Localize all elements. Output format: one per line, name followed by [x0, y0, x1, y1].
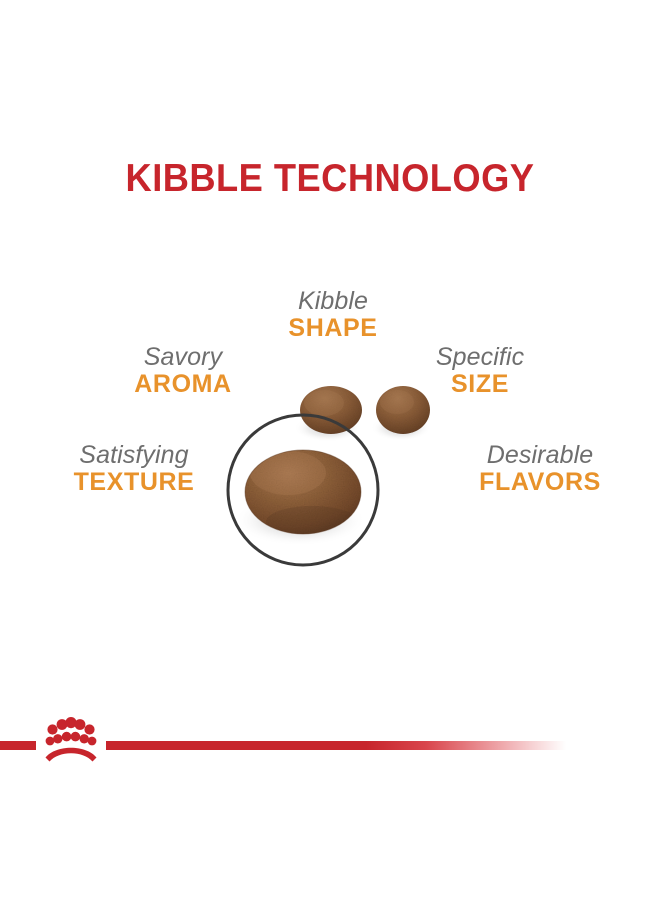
page-title: KIBBLE TECHNOLOGY [23, 157, 637, 201]
feature-texture-name: TEXTURE [48, 469, 220, 496]
crown-dots [46, 717, 97, 745]
small-kibble-left [300, 386, 362, 434]
royal-canin-crown-logo [38, 714, 104, 766]
crown-arc-base [46, 748, 97, 762]
feature-flavors-qualifier: Desirable [452, 442, 628, 469]
feature-shape-name: SHAPE [258, 315, 408, 342]
kibble-magnifier-illustration [200, 370, 460, 600]
feature-texture-qualifier: Satisfying [48, 442, 220, 469]
feature-label-kibble-shape: Kibble SHAPE [258, 288, 408, 342]
feature-label-desirable-flavors: Desirable FLAVORS [452, 442, 628, 496]
feature-shape-qualifier: Kibble [258, 288, 408, 315]
footer-rule-right-segment [106, 741, 566, 750]
footer-rule-left-segment [0, 741, 36, 750]
feature-flavors-name: FLAVORS [452, 469, 628, 496]
kibble-technology-infographic: KIBBLE TECHNOLOGY Kibble SHAPE Savory AR… [0, 0, 660, 900]
feature-aroma-qualifier: Savory [108, 344, 258, 371]
feature-size-qualifier: Specific [405, 344, 555, 371]
feature-label-satisfying-texture: Satisfying TEXTURE [48, 442, 220, 496]
small-kibble-right [376, 386, 430, 434]
